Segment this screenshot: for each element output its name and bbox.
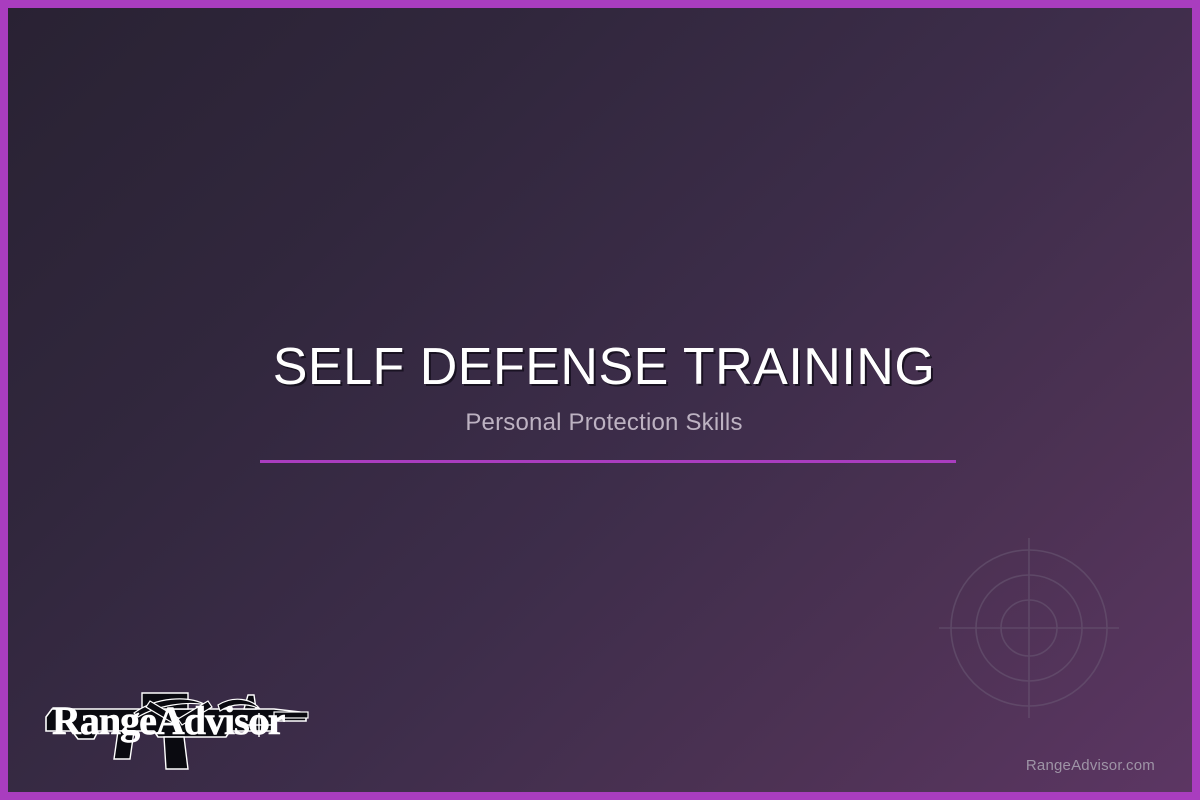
- brand-logo-wordmark: RangeAdvisor: [52, 698, 285, 743]
- crosshair-target-icon: [931, 530, 1127, 726]
- brand-logo: RangeAdvisor: [38, 679, 314, 771]
- footer-website-url: RangeAdvisor.com: [1026, 757, 1155, 774]
- presentation-slide: SELF DEFENSE TRAINING Personal Protectio…: [0, 0, 1200, 800]
- page-title: SELF DEFENSE TRAINING: [8, 338, 1200, 396]
- page-subtitle: Personal Protection Skills: [8, 396, 1200, 437]
- title-block: SELF DEFENSE TRAINING Personal Protectio…: [8, 338, 1200, 437]
- accent-divider: [260, 460, 956, 463]
